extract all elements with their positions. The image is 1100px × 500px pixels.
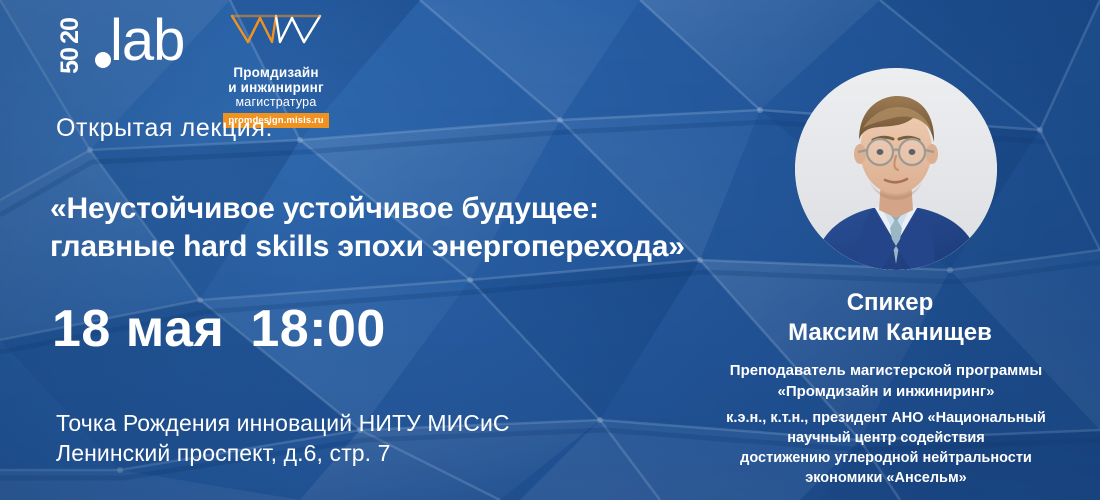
logo-2050-bottom: 50 <box>56 30 84 92</box>
event-kicker: Открытая лекция: <box>56 114 273 143</box>
promdesign-mark-icon <box>226 12 326 56</box>
event-date: 18 мая <box>52 300 224 358</box>
speaker-name: Максим Канищев <box>680 318 1100 348</box>
speaker-desc-line4: экономики «Ансельм» <box>668 468 1100 488</box>
venue-line1: Точка Рождения инноваций НИТУ МИСиС <box>56 408 510 438</box>
dot-separator-icon <box>95 52 111 68</box>
promdesign-line1: Промдизайн <box>220 65 332 80</box>
speaker-description: к.э.н., к.т.н., президент АНО «Националь… <box>668 408 1100 488</box>
promdesign-line2: и инжиниринг <box>220 80 332 95</box>
speaker-portrait-illustration <box>795 68 997 270</box>
logo-2050-lab[interactable]: 20 50 lab <box>46 8 186 84</box>
event-poster: 20 50 lab Промдизайн и инжиниринг магист… <box>0 0 1100 500</box>
event-title: «Неустойчивое устойчивое будущее: главны… <box>50 190 685 266</box>
venue-line2: Ленинский проспект, д.6, стр. 7 <box>56 438 510 468</box>
logo-promdesign[interactable]: Промдизайн и инжиниринг магистратура pro… <box>220 8 332 128</box>
event-title-line1: «Неустойчивое устойчивое будущее: <box>50 190 685 228</box>
speaker-role-line1: Преподаватель магистерской программы <box>672 360 1100 381</box>
event-time: 18:00 <box>250 300 386 358</box>
event-title-line2: главные hard skills эпохи энергоперехода… <box>50 228 685 266</box>
promdesign-line3: магистратура <box>220 95 332 110</box>
logo-lab-word: lab <box>110 12 184 70</box>
event-venue: Точка Рождения инноваций НИТУ МИСиС Лени… <box>56 408 510 468</box>
speaker-photo <box>795 68 997 270</box>
logo-2050-numbers: 20 50 <box>48 16 94 76</box>
speaker-role-line2: «Промдизайн и инжиниринг» <box>672 381 1100 402</box>
speaker-desc-line2: научный центр содействия <box>668 428 1100 448</box>
speaker-desc-line3: достижению углеродной нейтральности <box>668 448 1100 468</box>
speaker-heading: Спикер Максим Канищев <box>680 288 1100 348</box>
event-datetime: 18 мая18:00 <box>52 300 386 358</box>
logo-bar: 20 50 lab Промдизайн и инжиниринг магист… <box>46 8 332 128</box>
speaker-role: Преподаватель магистерской программы «Пр… <box>672 360 1100 402</box>
speaker-label: Спикер <box>680 288 1100 318</box>
speaker-desc-line1: к.э.н., к.т.н., президент АНО «Националь… <box>668 408 1100 428</box>
